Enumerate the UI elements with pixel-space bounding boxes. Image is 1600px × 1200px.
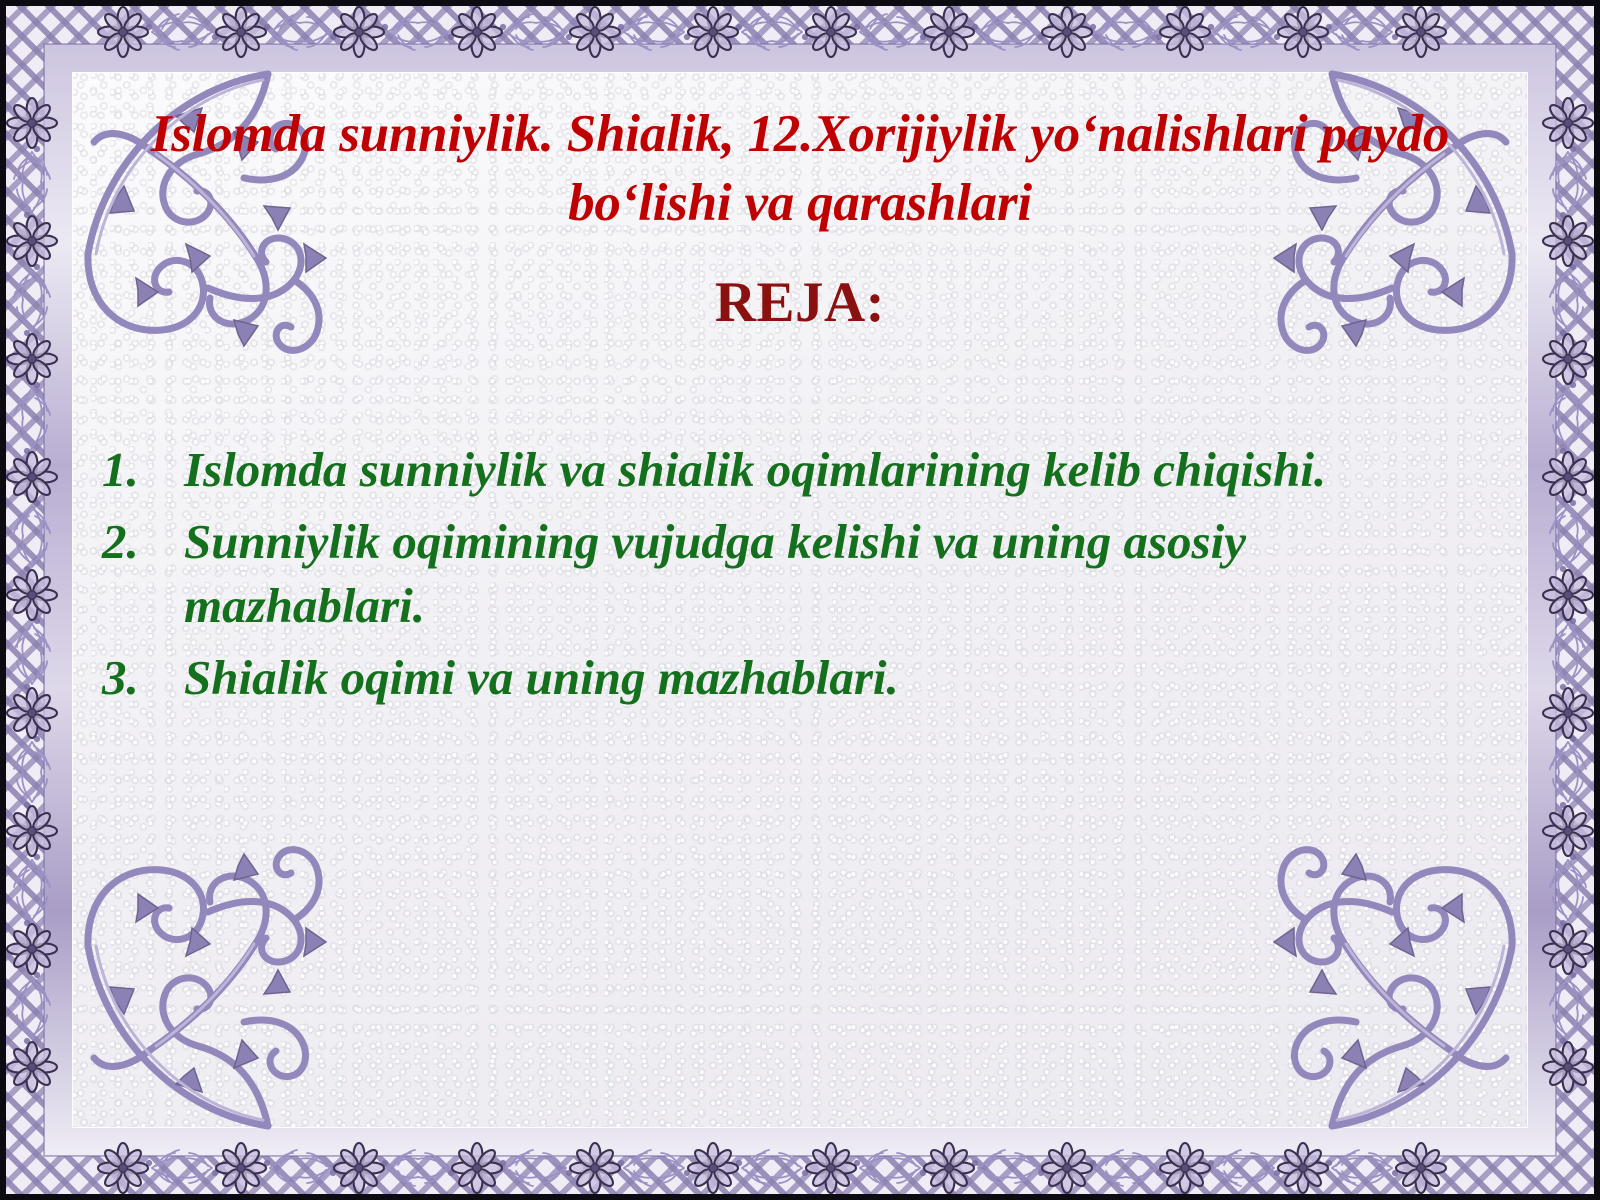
plan-item-text: Islomda sunniylik va shialik oqimlarinin…	[184, 438, 1520, 502]
slide-title: Islomda sunniylik. Shialik, 12.Xorijiyli…	[150, 100, 1450, 238]
plan-list: 1. Islomda sunniylik va shialik oqimlari…	[80, 438, 1520, 709]
plan-list-item: 2. Sunniylik oqimining vujudga kelishi v…	[80, 510, 1520, 637]
plan-list-item: 1. Islomda sunniylik va shialik oqimlari…	[80, 438, 1520, 502]
plan-list-item: 3. Shialik oqimi va uning mazhablari.	[80, 646, 1520, 710]
section-heading-reja: REJA:	[80, 272, 1520, 335]
plan-item-text: Sunniylik oqimining vujudga kelishi va u…	[184, 510, 1520, 637]
plan-item-text: Shialik oqimi va uning mazhablari.	[184, 646, 1520, 710]
slide-content: Islomda sunniylik. Shialik, 12.Xorijiyli…	[80, 78, 1520, 1122]
plan-item-number: 2.	[80, 510, 184, 574]
plan-item-number: 3.	[80, 646, 184, 710]
presentation-slide: Islomda sunniylik. Shialik, 12.Xorijiyli…	[0, 0, 1600, 1200]
plan-item-number: 1.	[80, 438, 184, 502]
